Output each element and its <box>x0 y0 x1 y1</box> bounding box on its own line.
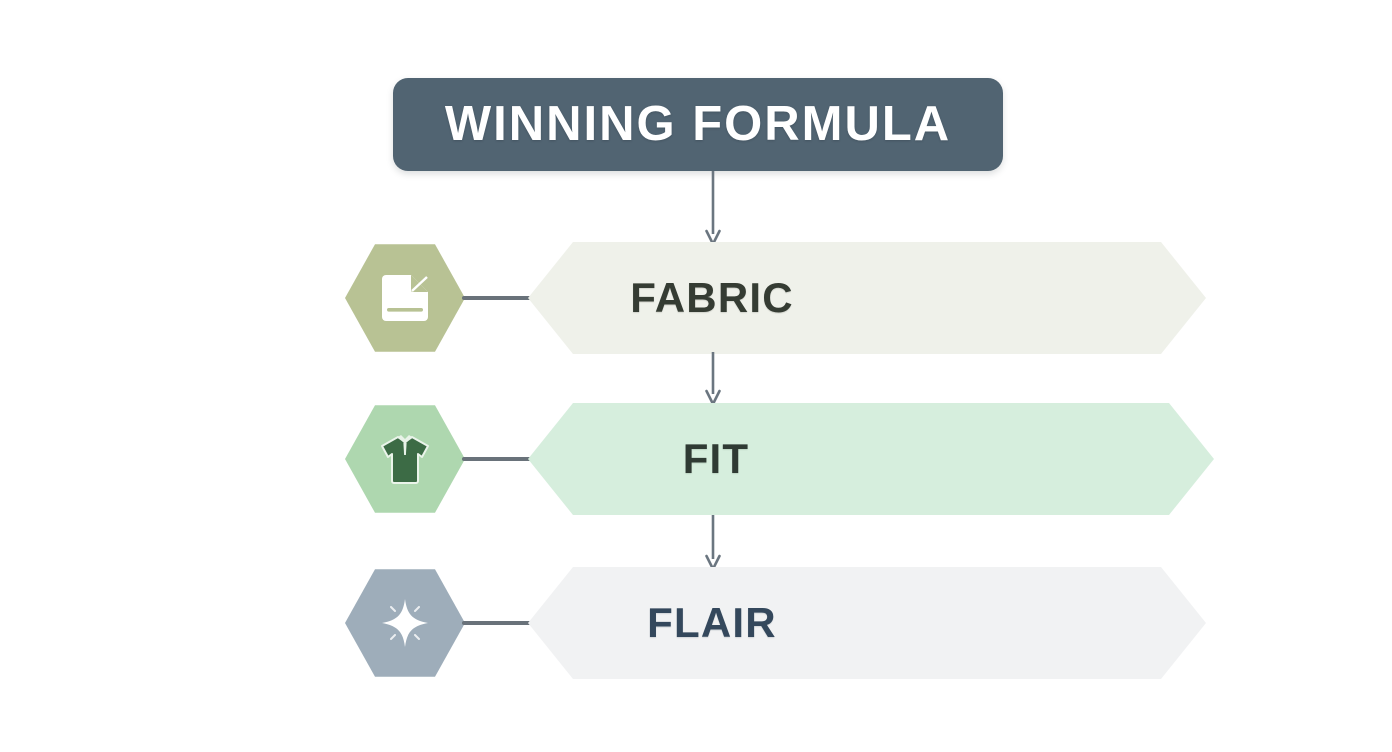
connector-stub-fit <box>462 457 532 461</box>
header-banner: WINNING FORMULA <box>393 78 1003 171</box>
arrow-fit-to-flair <box>704 515 722 571</box>
step-icon-badge-fit[interactable] <box>345 403 465 515</box>
fabric-swatch-icon <box>376 269 434 327</box>
step-label-flair: FLAIR <box>647 602 777 644</box>
arrow-down-icon <box>704 515 722 571</box>
step-banner-fabric[interactable]: FABRIC <box>528 242 1206 354</box>
step-label-fit: FIT <box>683 438 750 480</box>
arrow-down-icon <box>704 171 722 246</box>
step-icon-badge-flair[interactable] <box>345 567 465 679</box>
header-title: WINNING FORMULA <box>445 100 951 149</box>
step-icon-badge-fabric[interactable] <box>345 242 465 354</box>
step-row-fabric[interactable]: FABRIC <box>0 242 1392 354</box>
diagram-canvas: WINNING FORMULA FABRIC <box>0 0 1392 752</box>
step-banner-fit[interactable]: FIT <box>528 403 1214 515</box>
arrow-fabric-to-fit <box>704 352 722 406</box>
step-label-fabric: FABRIC <box>630 277 794 319</box>
arrow-header-to-fabric <box>704 171 722 246</box>
arrow-down-icon <box>704 352 722 406</box>
connector-stub-flair <box>462 621 532 625</box>
connector-stub-fabric <box>462 296 532 300</box>
step-banner-flair[interactable]: FLAIR <box>528 567 1206 679</box>
step-row-fit[interactable]: FIT <box>0 403 1392 515</box>
step-row-flair[interactable]: FLAIR <box>0 567 1392 679</box>
polo-shirt-icon <box>376 430 434 488</box>
sparkle-icon <box>376 594 434 652</box>
